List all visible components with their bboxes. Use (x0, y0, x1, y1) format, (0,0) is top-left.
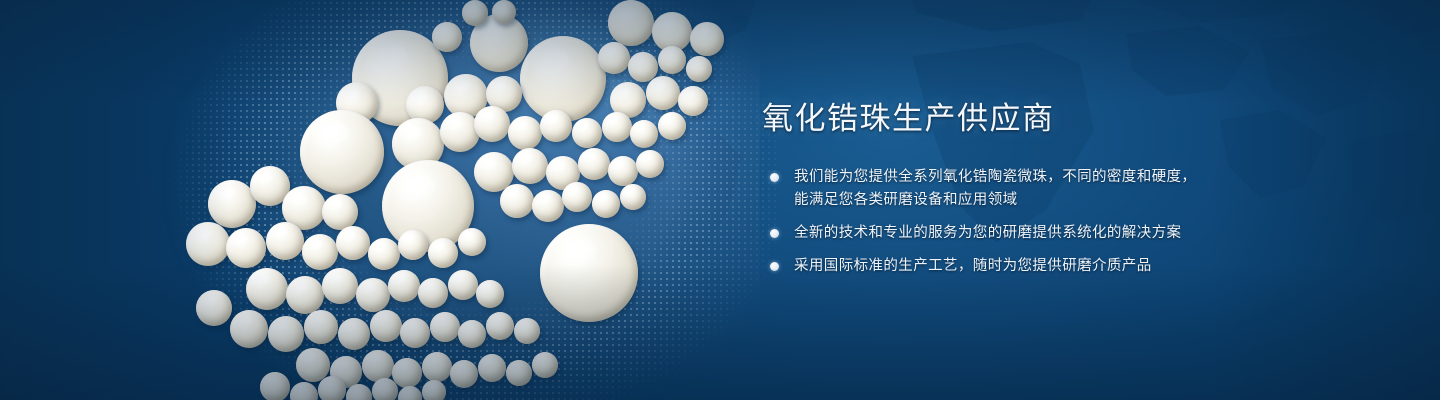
feature-bullet: 全新的技术和专业的服务为您的研磨提供系统化的解决方案 (762, 222, 1322, 245)
feature-bullet: 我们能为您提供全系列氧化锆陶瓷微珠，不同的密度和硬度，能满足您各类研磨设备和应用… (762, 166, 1322, 212)
bullet-dot-icon (770, 229, 779, 238)
banner-title: 氧化锆珠生产供应商 (762, 102, 1322, 136)
bullet-line-primary: 采用国际标准的生产工艺，随时为您提供研磨介质产品 (794, 258, 1152, 274)
banner-content: 氧化锆珠生产供应商 我们能为您提供全系列氧化锆陶瓷微珠，不同的密度和硬度，能满足… (762, 102, 1322, 278)
bullet-dot-icon (770, 173, 779, 182)
feature-bullet-list: 我们能为您提供全系列氧化锆陶瓷微珠，不同的密度和硬度，能满足您各类研磨设备和应用… (762, 166, 1322, 278)
bullet-line-primary: 全新的技术和专业的服务为您的研磨提供系统化的解决方案 (794, 225, 1181, 241)
bullet-dot-icon (770, 262, 779, 271)
bullet-line-primary: 我们能为您提供全系列氧化锆陶瓷微珠，不同的密度和硬度， (794, 169, 1196, 185)
hero-banner: 氧化锆珠生产供应商 我们能为您提供全系列氧化锆陶瓷微珠，不同的密度和硬度，能满足… (0, 0, 1440, 400)
feature-bullet: 采用国际标准的生产工艺，随时为您提供研磨介质产品 (762, 255, 1322, 278)
bullet-line-secondary: 能满足您各类研磨设备和应用领域 (794, 189, 1322, 212)
